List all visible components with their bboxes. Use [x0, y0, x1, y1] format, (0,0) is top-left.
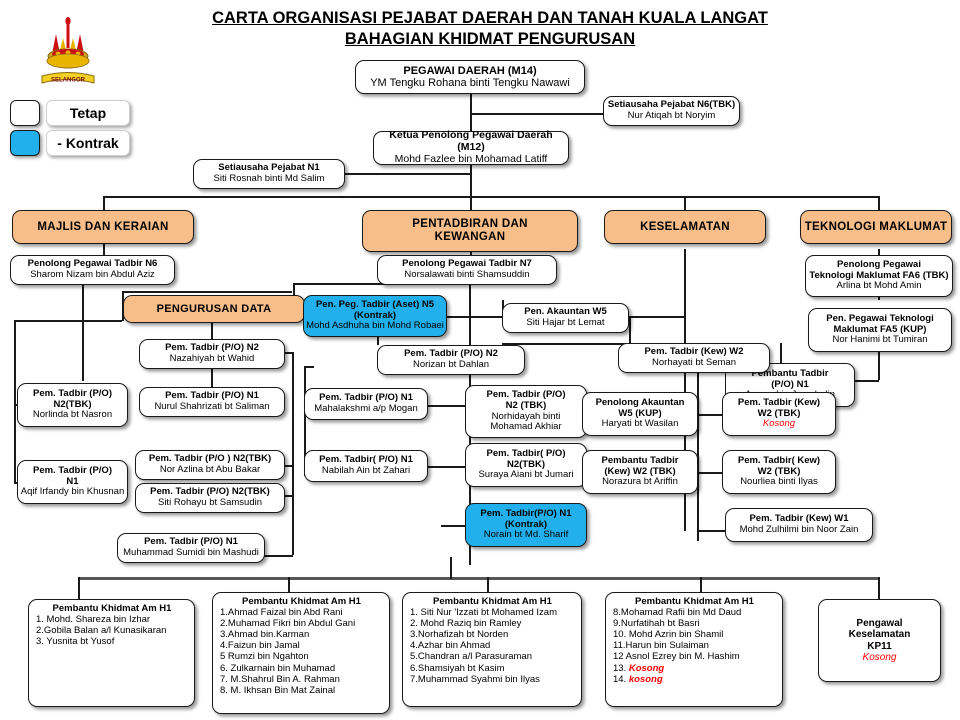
- connector: [470, 113, 603, 115]
- legend-swatch-kontrak: [10, 130, 40, 156]
- division-majlis-dan-keraian[interactable]: MAJLIS DAN KERAIAN: [12, 210, 194, 244]
- node-person: Haryati bt Wasilan: [585, 419, 695, 430]
- list-item: 8. M. Ikhsan Bin Mat Zainal: [220, 685, 335, 696]
- node-grade: KP11: [821, 641, 938, 652]
- node-title-2: N2 (TBK): [468, 401, 584, 412]
- node-person: Mohd Fazlee bin Mohamad Latiff: [376, 154, 566, 166]
- list-item: 2.Gobila Balan a/l Kunasikaran: [36, 625, 166, 636]
- org-chart-canvas: SELANGOR CARTA ORGANISASI PEJABAT DAERAH…: [0, 0, 960, 720]
- node-person: Aqif Irfandy bin Khusnan: [20, 487, 125, 498]
- node-person-2: Mohamad Akhiar: [468, 422, 584, 433]
- connector: [14, 320, 83, 322]
- connector: [304, 366, 314, 368]
- node-pembantu-tadbir-kew-w2tbk-norazura[interactable]: Pembantu Tadbir (Kew) W2 (TBK) Norazura …: [582, 450, 698, 494]
- svg-text:SELANGOR: SELANGOR: [51, 78, 86, 84]
- node-person: Nor Hanimi bt Tumiran: [811, 335, 949, 346]
- node-pem-tadbir-kew-w2tbk-nourliea[interactable]: Pem. Tadbir( Kew) W2 (TBK) Nourliea bint…: [722, 450, 836, 494]
- node-pem-tadbir-po-n1-nurul[interactable]: Pem. Tadbir (P/O) N1 Nurul Shahrizati bt…: [139, 387, 285, 417]
- list-item: 5.Chandran a/l Parasuraman: [410, 651, 532, 662]
- list-box-pembantu-khidmat-am-1[interactable]: Pembantu Khidmat Am H11. Mohd. Shareza b…: [28, 599, 195, 707]
- node-person: Nor Azlina bt Abu Bakar: [138, 465, 282, 476]
- connector: [262, 555, 293, 557]
- list-item: 10. Mohd Azrin bin Shamil: [613, 629, 723, 640]
- connector: [878, 577, 880, 599]
- list-item: 3.Norhafizah bt Norden: [410, 629, 508, 640]
- node-person: Norizan bt Dahlan: [380, 360, 522, 371]
- division-label-2: KEWANGAN: [365, 231, 575, 244]
- connector: [629, 316, 631, 343]
- page-title: CARTA ORGANISASI PEJABAT DAERAH DAN TANA…: [170, 8, 810, 50]
- node-person: Nurul Shahrizati bt Saliman: [142, 402, 282, 413]
- list-box-pembantu-khidmat-am-4[interactable]: Pembantu Khidmat Am H18.Mohamad Rafii bi…: [605, 592, 783, 707]
- division-keselamatan[interactable]: KESELAMATAN: [604, 210, 766, 244]
- list-box-header: Pembantu Khidmat Am H1: [613, 596, 776, 607]
- node-person: Nur Atiqah bt Noryim: [606, 111, 737, 122]
- node-title: PEGAWAI DAERAH (M14): [358, 65, 582, 77]
- list-item: 4.Azhar bin Ahmad: [410, 640, 490, 651]
- list-item: 2. Mohd Raziq bin Ramley: [410, 618, 521, 629]
- node-person: Suraya Aiani bt Jumari: [468, 470, 584, 481]
- node-pem-tadbir-po-n2tbk-norazlina[interactable]: Pem. Tadbir (P/O ) N2(TBK) Nor Azlina bt…: [135, 450, 285, 480]
- node-person: Siti Rohayu bt Samsudin: [138, 498, 282, 509]
- legend-swatch-tetap: [10, 100, 40, 126]
- title-line-2: BAHAGIAN KHIDMAT PENGURUSAN: [170, 29, 810, 50]
- connector: [684, 196, 686, 210]
- connector: [14, 320, 16, 484]
- connector: [878, 196, 880, 210]
- vacancy-status: Kosong: [629, 663, 664, 674]
- node-pem-tadbir-po-n1-aqif[interactable]: Pem. Tadbir (P/O) N1 Aqif Irfandy bin Kh…: [17, 460, 128, 504]
- node-person: Nazahiyah bt Wahid: [142, 354, 282, 365]
- node-person: Nabilah Ain bt Zahari: [307, 466, 425, 477]
- connector: [82, 320, 122, 322]
- node-person: Arlina bt Mohd Amin: [808, 281, 950, 292]
- list-item: 6.Shamsiyah bt Kasim: [410, 663, 505, 674]
- node-pegawai-daerah[interactable]: PEGAWAI DAERAH (M14) YM Tengku Rohana bi…: [355, 60, 585, 94]
- node-pem-tadbir-po-n1-muhammad[interactable]: Pem. Tadbir (P/O) N1 Muhammad Sumidi bin…: [117, 533, 265, 563]
- node-person: Norhayati bt Seman: [621, 358, 767, 369]
- list-item: 1.Ahmad Faizal bin Abd Rani: [220, 607, 343, 618]
- list-item: 5 Rumzi bin Ngahton: [220, 651, 309, 662]
- list-item: 14. kosong: [613, 674, 663, 685]
- connector: [629, 316, 685, 318]
- list-item: 13. Kosong: [613, 663, 664, 674]
- division-label: TEKNOLOGI MAKLUMAT: [803, 221, 949, 234]
- connector: [293, 283, 295, 295]
- list-item: 2.Muhamad Fikri bin Abdul Gani: [220, 618, 355, 629]
- node-pem-tadbir-po-n2tbk-sitirohayu[interactable]: Pem. Tadbir (P/O) N2(TBK) Siti Rohayu bt…: [135, 483, 285, 513]
- list-item: 1. Mohd. Shareza bin Izhar: [36, 614, 150, 625]
- list-item: 7.Muhammad Syahmi bin Ilyas: [410, 674, 540, 685]
- connector: [211, 366, 213, 387]
- connector: [103, 196, 879, 198]
- list-item: 12 Asnol Ezrey bin M. Hashim: [613, 651, 740, 662]
- node-person: Nourliea binti Ilyas: [725, 477, 833, 488]
- node-person: Siti Hajar bt Lemat: [505, 318, 626, 329]
- node-penolong-akauntan-w5-kup[interactable]: Penolong Akauntan W5 (KUP) Haryati bt Wa…: [582, 392, 698, 436]
- node-pem-tadbir-kew-w2tbk-kosong[interactable]: Pem. Tadbir (Kew) W2 (TBK) Kosong: [722, 392, 836, 436]
- list-item: 8.Mohamad Rafii bin Md Daud: [613, 607, 741, 618]
- list-item: 11.Harun bin Sulaiman: [613, 640, 709, 651]
- node-setiausaha-pejabat-n6[interactable]: Setiausaha Pejabat N6(TBK) Nur Atiqah bt…: [603, 96, 740, 126]
- list-item: 7. M.Shahrul Bin A. Rahman: [220, 674, 340, 685]
- connector: [82, 281, 84, 381]
- node-pem-tadbir-kew-w2-norhayati[interactable]: Pem. Tadbir (Kew) W2 Norhayati bt Seman: [618, 343, 770, 373]
- node-person: Norain bt Md. Sharif: [468, 530, 584, 541]
- list-item: 1. Siti Nur 'Izzati bt Mohamed Izam: [410, 607, 557, 618]
- node-person: YM Tengku Rohana binti Tengku Nawawi: [358, 77, 582, 89]
- node-vacancy-status: Kosong: [821, 652, 938, 663]
- connector: [450, 557, 452, 579]
- node-title-2: Keselamatan: [821, 629, 938, 640]
- node-person: Mahalakshmi a/p Mogan: [307, 404, 425, 415]
- node-person: Norsalawati binti Shamsuddin: [380, 270, 554, 281]
- node-pem-tadbir-po-n2-norizan[interactable]: Pem. Tadbir (P/O) N2 Norizan bt Dahlan: [377, 345, 525, 375]
- node-penolong-pegawai-tadbir-n6[interactable]: Penolong Pegawai Tadbir N6 Sharom Nizam …: [10, 255, 175, 285]
- connector: [292, 352, 294, 555]
- node-person: Muhammad Sumidi bin Mashudi: [120, 548, 262, 559]
- node-title: Ketua Penolong Pegawai Daerah (M12): [376, 130, 566, 154]
- node-pem-tadbir-po-n2tbk-norhidayah[interactable]: Pem. Tadbir (P/O) N2 (TBK) Norhidayah bi…: [465, 385, 587, 438]
- list-item: 4.Faizun bin Jamal: [220, 640, 300, 651]
- node-pem-tadbir-po-n1-norain-kontrak[interactable]: Pem. Tadbir(P/O) N1 (Kontrak) Norain bt …: [465, 503, 587, 547]
- division-label: MAJLIS DAN KERAIAN: [15, 221, 191, 234]
- vacancy-status: kosong: [629, 674, 663, 685]
- selangor-crest-logo: SELANGOR: [32, 14, 104, 92]
- node-pem-tadbir-kew-w1-zulhilmi[interactable]: Pem. Tadbir (Kew) W1 Mohd Zulhilmi bin N…: [725, 508, 873, 542]
- node-pen-pegawai-teknologi-maklumat-fa5[interactable]: Pen. Pegawai Teknologi Maklumat FA5 (KUP…: [808, 308, 952, 352]
- node-pem-tadbir-po-n2-nazahiyah[interactable]: Pem. Tadbir (P/O) N2 Nazahiyah bt Wahid: [139, 339, 285, 369]
- list-item: 3.Ahmad bin.Karman: [220, 629, 309, 640]
- connector: [502, 343, 630, 345]
- connector: [697, 530, 725, 532]
- node-person: Norazura bt Ariffin: [585, 477, 695, 488]
- division-pengurusan-data[interactable]: PENGURUSAN DATA: [123, 295, 305, 323]
- node-penolong-pegawai-teknologi-maklumat-fa6[interactable]: Penolong Pegawai Teknologi Maklumat FA6 …: [805, 255, 953, 297]
- list-item: 3. Yusnita bt Yusof: [36, 636, 114, 647]
- connector: [442, 316, 502, 318]
- division-label: PENTADBIRAN DAN: [365, 218, 575, 231]
- list-box-pembantu-khidmat-am-3[interactable]: Pembantu Khidmat Am H11. Siti Nur 'Izzat…: [402, 592, 582, 707]
- list-item: 6. Zulkarnain bin Muhamad: [220, 663, 335, 674]
- connector: [211, 323, 213, 339]
- division-label: PENGURUSAN DATA: [126, 303, 302, 315]
- connector: [103, 196, 105, 210]
- node-person: Mohd Zulhilmi bin Noor Zain: [728, 525, 870, 536]
- list-item: 9.Nurfatihah bt Basri: [613, 618, 700, 629]
- node-vacancy-status: Kosong: [725, 419, 833, 430]
- node-pen-akauntan-w5[interactable]: Pen. Akauntan W5 Siti Hajar bt Lemat: [502, 303, 629, 333]
- connector: [78, 577, 80, 599]
- division-label: KESELAMATAN: [607, 221, 763, 234]
- node-person: Norlinda bt Nasron: [20, 410, 125, 421]
- connector: [470, 196, 472, 210]
- node-pengawal-keselamatan[interactable]: Pengawal Keselamatan KP11 Kosong: [818, 599, 941, 682]
- connector-bottom-bus: [78, 577, 878, 580]
- node-pen-peg-tadbir-aset-n5-kontrak[interactable]: Pen. Peg. Tadbir (Aset) N5 (Kontrak) Moh…: [303, 295, 447, 337]
- node-pem-tadbir-po-n2tbk-norlinda[interactable]: Pem. Tadbir (P/O) N2(TBK) Norlinda bt Na…: [17, 383, 128, 427]
- node-ketua-penolong-pegawai-daerah[interactable]: Ketua Penolong Pegawai Daerah (M12) Mohd…: [373, 131, 569, 165]
- list-box-header: Pembantu Khidmat Am H1: [410, 596, 575, 607]
- division-teknologi-maklumat[interactable]: TEKNOLOGI MAKLUMAT: [800, 210, 952, 244]
- node-setiausaha-pejabat-n1[interactable]: Setiausaha Pejabat N1 Siti Rosnah binti …: [193, 159, 345, 189]
- legend-label-tetap: Tetap: [46, 100, 130, 126]
- node-person: Sharom Nizam bin Abdul Aziz: [13, 270, 172, 281]
- connector: [122, 291, 292, 293]
- node-penolong-pegawai-tadbir-n7[interactable]: Penolong Pegawai Tadbir N7 Norsalawati b…: [377, 255, 557, 285]
- list-box-header: Pembantu Khidmat Am H1: [36, 603, 188, 614]
- legend-label-kontrak: - Kontrak: [46, 130, 130, 156]
- list-box-pembantu-khidmat-am-2[interactable]: Pembantu Khidmat Am H11.Ahmad Faizal bin…: [212, 592, 390, 714]
- connector: [684, 249, 686, 316]
- connector: [345, 173, 471, 175]
- node-pem-tadbir-po-n1-mahalakshmi[interactable]: Pem. Tadbir (P/O) N1 Mahalakshmi a/p Mog…: [304, 388, 428, 420]
- node-pem-tadbir-po-n1-nabilah[interactable]: Pem. Tadbir( P/O) N1 Nabilah Ain bt Zaha…: [304, 450, 428, 482]
- list-box-header: Pembantu Khidmat Am H1: [220, 596, 383, 607]
- node-title: Pengawal: [821, 618, 938, 629]
- division-pentadbiran-dan-kewangan[interactable]: PENTADBIRAN DAN KEWANGAN: [362, 210, 578, 252]
- node-pem-tadbir-po-n2tbk-suraya[interactable]: Pem. Tadbir( P/O) N2(TBK) Suraya Aiani b…: [465, 443, 587, 487]
- title-line-1: CARTA ORGANISASI PEJABAT DAERAH DAN TANA…: [170, 8, 810, 29]
- node-person: Siti Rosnah binti Md Salim: [196, 174, 342, 185]
- node-person: Mohd Asdhuha bin Mohd Robaei: [306, 321, 444, 332]
